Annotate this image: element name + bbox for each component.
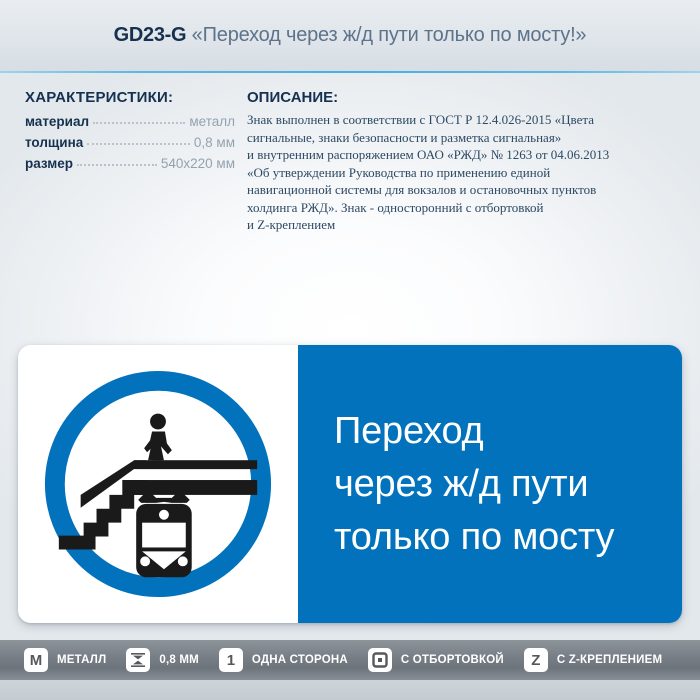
description-line: Знак выполнен в соответствии с ГОСТ Р 12… bbox=[247, 111, 687, 129]
z-mount-icon-glyph: Z bbox=[531, 653, 540, 668]
page-header: GD23-G «Переход через ж/д пути только по… bbox=[0, 0, 700, 72]
info-section: ХАРАКТЕРИСТИКИ: материал металл толщина … bbox=[0, 78, 700, 288]
attribute-item-sides: 1 ОДНА СТОРОНА bbox=[219, 648, 348, 672]
characteristic-label: размер bbox=[25, 156, 73, 171]
flanged-edge-icon bbox=[368, 648, 392, 672]
characteristic-row: толщина 0,8 мм bbox=[25, 134, 235, 150]
attribute-item-material: M МЕТАЛЛ bbox=[24, 648, 106, 672]
characteristic-value: 0,8 мм bbox=[194, 135, 235, 150]
characteristic-value: 540х220 мм bbox=[161, 156, 235, 171]
characteristic-label: толщина bbox=[25, 135, 83, 150]
one-side-icon-glyph: 1 bbox=[227, 653, 235, 668]
description-title: ОПИСАНИЕ: bbox=[247, 89, 687, 106]
thickness-icon bbox=[126, 648, 150, 672]
product-card-page: GD23-G «Переход через ж/д пути только по… bbox=[0, 0, 700, 700]
characteristic-value: металл bbox=[189, 114, 235, 129]
description-line: навигационной системы для вокзалов и ост… bbox=[247, 181, 687, 199]
description-block: ОПИСАНИЕ: Знак выполнен в соответствии с… bbox=[247, 89, 687, 234]
characteristic-row: размер 540х220 мм bbox=[25, 155, 235, 171]
attributes-bar: M МЕТАЛЛ 0,8 ММ 1 bbox=[0, 640, 700, 680]
description-line: и внутренним распоряжением ОАО «РЖД» № 1… bbox=[247, 146, 687, 164]
page-footer bbox=[0, 680, 700, 700]
description-line: «Об утверждении Руководства по применени… bbox=[247, 164, 687, 182]
attribute-item-mount: Z С Z-КРЕПЛЕНИЕМ bbox=[524, 648, 662, 672]
thickness-icon-glyph bbox=[130, 652, 146, 668]
description-line: сигнальные, знаки безопасности и разметк… bbox=[247, 129, 687, 147]
attribute-label-edge: С ОТБОРТОВКОЙ bbox=[401, 654, 504, 666]
page-title: GD23-G «Переход через ж/д пути только по… bbox=[114, 24, 587, 47]
attributes-list: M МЕТАЛЛ 0,8 ММ 1 bbox=[0, 648, 700, 672]
one-side-icon: 1 bbox=[219, 648, 243, 672]
sign-text-line: через ж/д пути bbox=[334, 458, 682, 511]
product-code: GD23-G bbox=[114, 24, 187, 46]
sign-text-line: Переход bbox=[334, 405, 682, 458]
attribute-item-edge: С ОТБОРТОВКОЙ bbox=[368, 648, 504, 672]
product-name: «Переход через ж/д пути только по мосту!… bbox=[192, 24, 587, 46]
pedestrian-bridge-over-railway-icon bbox=[39, 365, 277, 603]
sign-preview-card: Переход через ж/д пути только по мосту bbox=[18, 345, 682, 623]
attribute-label-material: МЕТАЛЛ bbox=[57, 654, 106, 666]
page-header-inner: GD23-G «Переход через ж/д пути только по… bbox=[0, 0, 700, 70]
attribute-label-mount: С Z-КРЕПЛЕНИЕМ bbox=[557, 654, 662, 666]
sign-pictogram-panel bbox=[18, 345, 298, 623]
dot-leader bbox=[87, 132, 190, 145]
flanged-edge-icon-glyph bbox=[372, 652, 388, 668]
description-line: холдинга РЖД». Знак - односторонний с от… bbox=[247, 199, 687, 217]
material-metal-icon-glyph: M bbox=[30, 653, 43, 668]
sign-text-line: только по мосту bbox=[334, 511, 682, 564]
attribute-label-thickness: 0,8 ММ bbox=[159, 654, 199, 666]
characteristics-block: ХАРАКТЕРИСТИКИ: материал металл толщина … bbox=[25, 89, 235, 176]
attribute-label-sides: ОДНА СТОРОНА bbox=[252, 654, 348, 666]
material-metal-icon: M bbox=[24, 648, 48, 672]
characteristic-label: материал bbox=[25, 114, 89, 129]
header-divider bbox=[0, 71, 700, 73]
description-line: и Z-креплением bbox=[247, 216, 687, 234]
sign-text-panel: Переход через ж/д пути только по мосту bbox=[298, 345, 682, 623]
description-body: Знак выполнен в соответствии с ГОСТ Р 12… bbox=[247, 111, 687, 234]
characteristics-title: ХАРАКТЕРИСТИКИ: bbox=[25, 89, 235, 106]
dot-leader bbox=[93, 111, 185, 124]
attribute-item-thickness: 0,8 ММ bbox=[126, 648, 199, 672]
characteristic-row: материал металл bbox=[25, 113, 235, 129]
z-mount-icon: Z bbox=[524, 648, 548, 672]
dot-leader bbox=[77, 153, 157, 166]
